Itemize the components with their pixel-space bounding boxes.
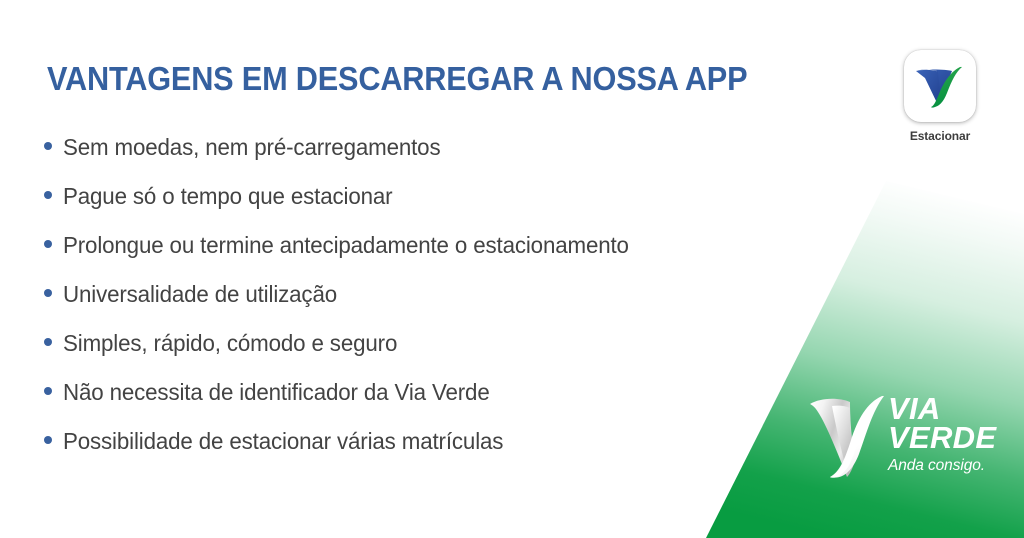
via-verde-v-mark-icon	[806, 382, 886, 488]
logo-tagline: Anda consigo.	[888, 456, 996, 476]
list-item: Pague só o tempo que estacionar	[44, 183, 659, 232]
list-item: Possibilidade de estacionar várias matrí…	[44, 428, 659, 477]
list-item-label: Universalidade de utilização	[63, 281, 337, 308]
list-item-label: Possibilidade de estacionar várias matrí…	[63, 428, 503, 455]
list-item: Universalidade de utilização	[44, 281, 659, 330]
benefits-list: Sem moedas, nem pré-carregamentos Pague …	[44, 134, 659, 477]
estacionar-app-icon[interactable]	[904, 50, 976, 122]
list-item-label: Pague só o tempo que estacionar	[63, 183, 392, 210]
page-title: VANTAGENS EM DESCARREGAR A NOSSA APP	[47, 60, 747, 98]
list-item: Sem moedas, nem pré-carregamentos	[44, 134, 659, 183]
list-item-label: Prolongue ou termine antecipadamente o e…	[63, 232, 629, 259]
list-item: Não necessita de identificador da Via Ve…	[44, 379, 659, 428]
via-verde-wordmark: VIA VERDE Anda consigo.	[888, 382, 996, 476]
bullet-dot-icon	[44, 240, 52, 248]
bullet-dot-icon	[44, 142, 52, 150]
list-item: Simples, rápido, cómodo e seguro	[44, 330, 659, 379]
list-item-label: Sem moedas, nem pré-carregamentos	[63, 134, 440, 161]
logo-line-via: VIA	[888, 394, 996, 423]
bullet-dot-icon	[44, 289, 52, 297]
app-icon-label: Estacionar	[897, 129, 983, 143]
list-item-label: Não necessita de identificador da Via Ve…	[63, 379, 490, 406]
promo-slide: VANTAGENS EM DESCARREGAR A NOSSA APP Sem…	[0, 0, 1024, 538]
bullet-dot-icon	[44, 338, 52, 346]
app-icon-block: Estacionar	[897, 50, 983, 143]
bullet-dot-icon	[44, 191, 52, 199]
list-item-label: Simples, rápido, cómodo e seguro	[63, 330, 397, 357]
bullet-dot-icon	[44, 436, 52, 444]
bullet-dot-icon	[44, 387, 52, 395]
list-item: Prolongue ou termine antecipadamente o e…	[44, 232, 659, 281]
via-verde-logo: VIA VERDE Anda consigo.	[806, 382, 1006, 488]
logo-line-verde: VERDE	[888, 423, 996, 452]
